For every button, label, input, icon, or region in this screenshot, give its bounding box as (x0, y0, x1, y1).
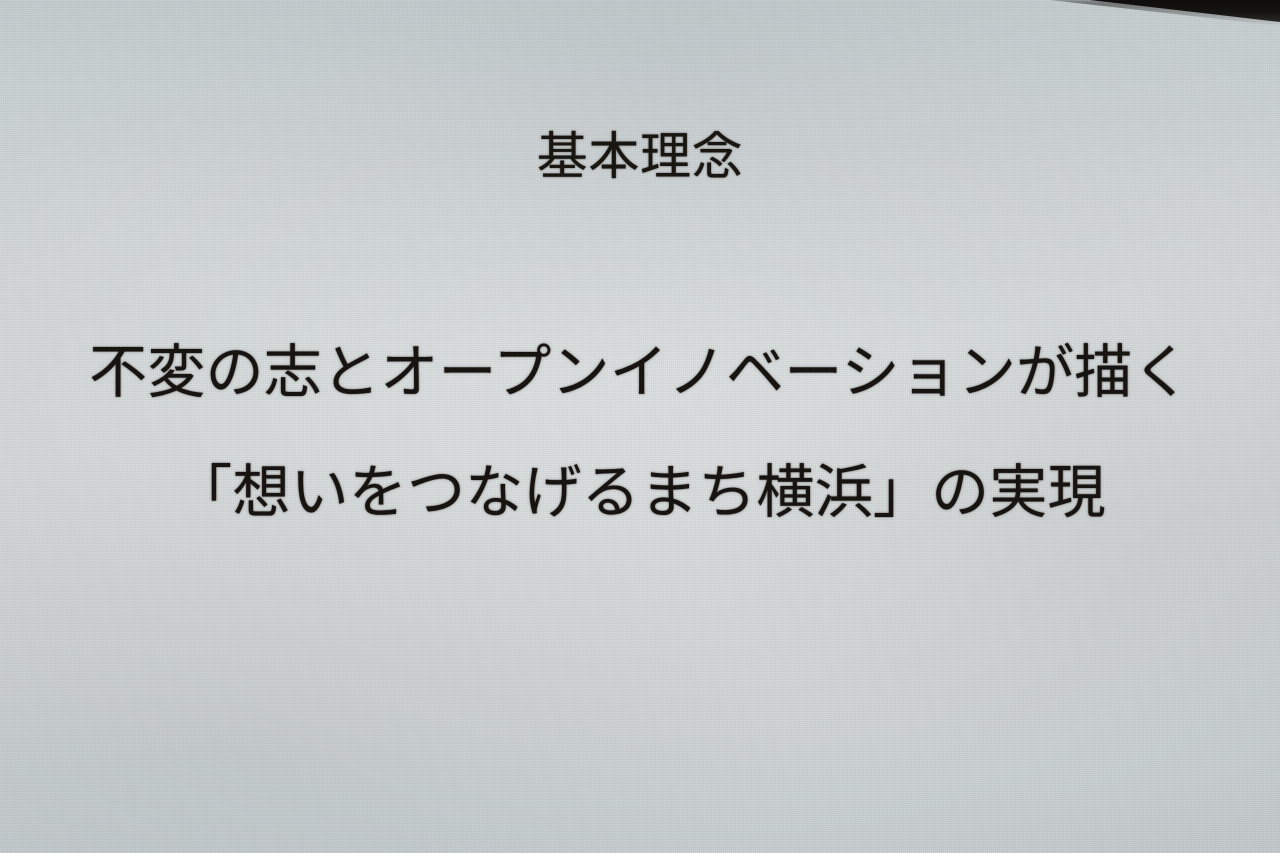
slide-title: 基本理念 (0, 131, 1280, 182)
slide-body-line-1: 不変の志とオープンイノベーションが描く (0, 344, 1280, 402)
slide-body-line-2: 「想いをつなげるまち横浜」の実現 (0, 464, 1280, 522)
projected-slide-photo: 基本理念 不変の志とオープンイノベーションが描く 「想いをつなげるまち横浜」の実… (0, 0, 1280, 853)
slide-content: 基本理念 不変の志とオープンイノベーションが描く 「想いをつなげるまち横浜」の実… (0, 0, 1280, 853)
slide-body: 不変の志とオープンイノベーションが描く 「想いをつなげるまち横浜」の実現 (0, 344, 1280, 522)
